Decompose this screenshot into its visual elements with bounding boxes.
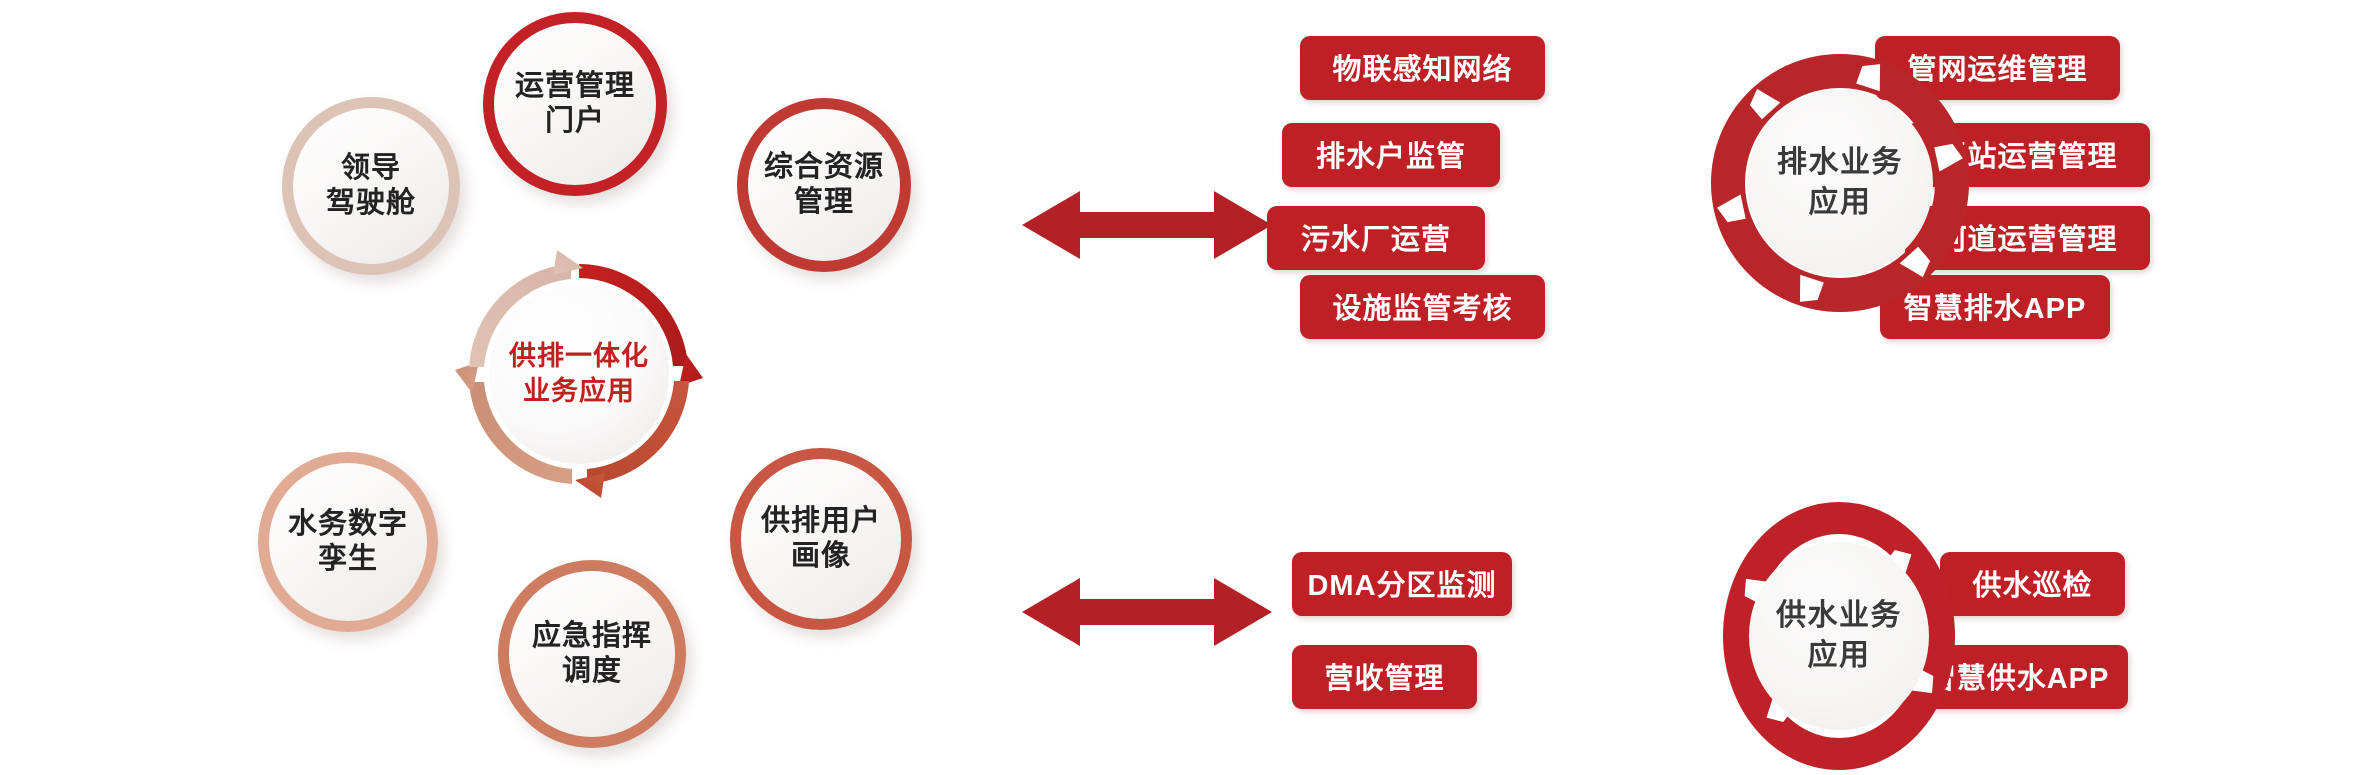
satellite-label-line2: 孪生 bbox=[288, 542, 408, 577]
satellite-label-line1: 运营管理 bbox=[515, 69, 635, 104]
tag-facility-supervision-assessment[interactable]: 设施监管考核 bbox=[1300, 275, 1545, 339]
water-supply-link-arrow-icon bbox=[1022, 572, 1272, 652]
water-supply-hub-line2: 应用 bbox=[1808, 636, 1871, 676]
drainage-link-arrow-icon bbox=[1022, 185, 1272, 265]
tag-sewage-plant-operation[interactable]: 污水厂运营 bbox=[1267, 206, 1485, 270]
central-hub: 供排一体化 业务应用 bbox=[455, 250, 703, 498]
satellite-label-line2: 门户 bbox=[515, 104, 635, 139]
satellite-label-line2: 管理 bbox=[764, 185, 884, 220]
hub-core-label: 供排一体化 业务应用 bbox=[489, 284, 669, 464]
hub-label-line1: 供排一体化 bbox=[509, 339, 649, 374]
drainage-hub-line2: 应用 bbox=[1809, 183, 1872, 223]
satellite-emergency-command-dispatch[interactable]: 应急指挥 调度 bbox=[498, 560, 686, 748]
satellite-water-user-profile[interactable]: 供排用户 画像 bbox=[730, 448, 912, 630]
hub-label-line2: 业务应用 bbox=[523, 374, 635, 409]
satellite-label-line1: 水务数字 bbox=[288, 507, 408, 542]
tag-dma-zone-monitoring[interactable]: DMA分区监测 bbox=[1292, 552, 1512, 616]
satellite-integrated-resource-management[interactable]: 综合资源 管理 bbox=[737, 98, 911, 272]
drainage-hub-label: 排水业务 应用 bbox=[1747, 90, 1933, 276]
satellite-label-line2: 调度 bbox=[532, 654, 652, 689]
satellite-label-line1: 领导 bbox=[326, 151, 416, 186]
water-supply-hub: 供水业务 应用 bbox=[1705, 502, 1973, 770]
satellite-label-line2: 驾驶舱 bbox=[326, 186, 416, 221]
tag-revenue-management[interactable]: 营收管理 bbox=[1292, 645, 1477, 709]
drainage-hub-line1: 排水业务 bbox=[1777, 143, 1903, 183]
satellite-label-line1: 综合资源 bbox=[764, 150, 884, 185]
satellite-label-line1: 应急指挥 bbox=[532, 619, 652, 654]
satellite-operations-management-portal[interactable]: 运营管理 门户 bbox=[483, 12, 667, 196]
satellite-label-line1: 供排用户 bbox=[761, 504, 881, 539]
diagram-canvas: 领导 驾驶舱 运营管理 门户 综合资源 管理 水务数字 孪生 供排用户 bbox=[0, 0, 2362, 775]
water-supply-hub-line1: 供水业务 bbox=[1776, 596, 1902, 636]
tag-iot-sensing-network[interactable]: 物联感知网络 bbox=[1300, 36, 1545, 100]
satellite-water-digital-twin[interactable]: 水务数字 孪生 bbox=[258, 452, 438, 632]
water-supply-hub-label: 供水业务 应用 bbox=[1749, 542, 1929, 730]
tag-drainage-household-supervision[interactable]: 排水户监管 bbox=[1282, 123, 1500, 187]
satellite-leadership-cockpit[interactable]: 领导 驾驶舱 bbox=[282, 97, 460, 275]
drainage-business-panel: 物联感知网络 排水户监管 污水厂运营 设施监管考核 管网运维管理 泵站运营管理 … bbox=[1300, 18, 2350, 348]
water-supply-business-panel: DMA分区监测 营收管理 供水巡检 智慧供水APP 供水业务 应 bbox=[1300, 500, 2350, 775]
satellite-label-line2: 画像 bbox=[761, 539, 881, 574]
drainage-hub: 排水业务 应用 bbox=[1705, 48, 1975, 318]
